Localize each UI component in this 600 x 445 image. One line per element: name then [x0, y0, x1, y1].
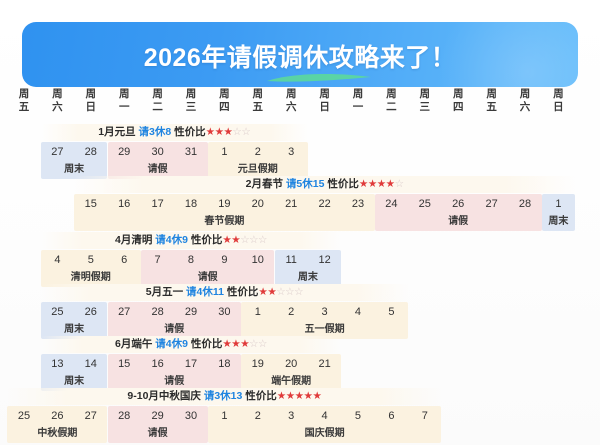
section-month-label: 4月清明: [115, 234, 155, 246]
rating-stars: ★★☆☆☆: [258, 286, 303, 298]
calendar-band-holiday: 456清明假期: [41, 250, 141, 287]
band-day-numbers: 282930: [108, 406, 208, 427]
star-empty-icon: ☆: [294, 286, 303, 298]
day-cell[interactable]: 30: [141, 142, 174, 163]
day-cell[interactable]: 16: [108, 194, 141, 215]
rating-stars: ★★★☆☆: [206, 126, 251, 138]
weekday-header-cell: 周一: [342, 88, 375, 116]
weekday-char-bottom: 四: [442, 101, 475, 114]
calendar-band-weekend: 2526周末: [41, 302, 108, 339]
band-day-numbers: 2425262728: [375, 194, 542, 215]
section-title: 6月端午 请4休9 性价比★★★☆☆: [41, 336, 342, 353]
section-title: 9-10月中秋国庆 请3休13 性价比★★★★★: [7, 388, 441, 405]
band-label: 请假: [375, 214, 542, 230]
day-cell[interactable]: 29: [175, 302, 208, 323]
day-cell[interactable]: 11: [275, 250, 308, 271]
weekday-char-top: 周: [375, 88, 408, 101]
weekday-header-cell: 周一: [108, 88, 141, 116]
day-cell[interactable]: 26: [442, 194, 475, 215]
day-cell[interactable]: 8: [174, 250, 207, 271]
weekday-char-bottom: 六: [275, 101, 308, 114]
weekday-header-cell: 周三: [408, 88, 441, 116]
section-plan-label: 请4休9: [155, 234, 188, 246]
band-day-numbers: 1: [542, 194, 575, 215]
band-day-numbers: 27282930: [108, 302, 242, 323]
day-cell[interactable]: 20: [241, 194, 274, 215]
calendar-band-holiday: 1234567国庆假期: [208, 406, 442, 443]
day-cell[interactable]: 25: [7, 406, 40, 427]
band-day-numbers: 15161718: [108, 354, 242, 375]
day-cell[interactable]: 28: [108, 406, 141, 427]
day-cell[interactable]: 4: [41, 250, 74, 271]
day-cell[interactable]: 10: [241, 250, 274, 271]
calendar-band-leave: 15161718请假: [108, 354, 242, 391]
weekday-header-cell: 周日: [542, 88, 575, 116]
section-month-label: 2月春节: [246, 178, 286, 190]
star-empty-icon: ☆: [258, 234, 267, 246]
rating-stars: ★★☆☆☆: [222, 234, 267, 246]
weekday-header-cell: 周六: [41, 88, 74, 116]
weekday-char-bottom: 六: [41, 101, 74, 114]
section-plan-label: 请4休11: [186, 286, 224, 298]
day-cell[interactable]: 28: [74, 142, 107, 163]
day-cell[interactable]: 30: [175, 406, 208, 427]
section-plan-label: 请5休15: [286, 178, 325, 190]
day-cell[interactable]: 29: [108, 142, 141, 163]
star-filled-icon: ★: [377, 178, 386, 190]
band-label: 中秋假期: [7, 426, 107, 442]
day-cell[interactable]: 5: [341, 406, 374, 427]
weekday-char-top: 周: [141, 88, 174, 101]
star-filled-icon: ★: [240, 338, 249, 350]
band-label: 周末: [542, 214, 575, 230]
day-cell[interactable]: 24: [375, 194, 408, 215]
day-cell[interactable]: 15: [108, 354, 141, 375]
day-cell[interactable]: 26: [74, 302, 107, 323]
star-filled-icon: ★: [359, 178, 368, 190]
page-title: 2026年请假调休攻略来了！: [22, 38, 578, 74]
day-cell[interactable]: 1: [241, 302, 274, 323]
star-filled-icon: ★: [215, 126, 224, 138]
calendar-band-holiday: 192021端午假期: [241, 354, 341, 391]
star-empty-icon: ☆: [240, 234, 249, 246]
weekday-header-cell: 周五: [8, 88, 41, 116]
weekday-char-top: 周: [308, 88, 341, 101]
day-cell[interactable]: 27: [108, 302, 141, 323]
day-cell[interactable]: 1: [542, 194, 575, 215]
weekday-char-bottom: 三: [408, 101, 441, 114]
weekday-char-bottom: 五: [241, 101, 274, 114]
band-day-numbers: 293031: [108, 142, 208, 163]
day-cell[interactable]: 20: [275, 354, 308, 375]
weekday-header-cell: 周六: [509, 88, 542, 116]
weekday-char-top: 周: [509, 88, 542, 101]
day-cell[interactable]: 6: [108, 250, 141, 271]
weekday-char-bottom: 六: [509, 101, 542, 114]
weekday-char-top: 周: [442, 88, 475, 101]
day-cell[interactable]: 12: [308, 250, 341, 271]
weekday-char-bottom: 日: [542, 101, 575, 114]
day-cell[interactable]: 25: [408, 194, 441, 215]
weekday-char-top: 周: [108, 88, 141, 101]
holiday-section: 5月五一 请4休11 性价比★★☆☆☆2526周末27282930请假12345…: [0, 284, 600, 340]
day-cell[interactable]: 4: [308, 406, 341, 427]
day-cell[interactable]: 25: [41, 302, 74, 323]
weekday-char-top: 周: [175, 88, 208, 101]
section-month-label: 9-10月中秋国庆: [127, 390, 203, 402]
star-filled-icon: ★: [267, 286, 276, 298]
rating-stars: ★★★☆☆: [222, 338, 267, 350]
band-day-numbers: 78910: [141, 250, 275, 271]
day-cell[interactable]: 28: [141, 302, 174, 323]
band-day-numbers: 123: [208, 142, 308, 163]
weekday-char-bottom: 二: [141, 101, 174, 114]
weekday-char-bottom: 日: [74, 101, 107, 114]
calendar-band-weekend: 1周末: [542, 194, 575, 231]
weekday-header-cell: 周五: [241, 88, 274, 116]
day-cell[interactable]: 3: [308, 302, 341, 323]
band-day-numbers: 456: [41, 250, 141, 271]
weekday-char-top: 周: [275, 88, 308, 101]
weekday-char-bottom: 一: [108, 101, 141, 114]
weekday-char-top: 周: [408, 88, 441, 101]
day-cell[interactable]: 29: [141, 406, 174, 427]
calendar-page: 2026年请假调休攻略来了！ 周五周六周日周一周二周三周四周五周六周日周一周二周…: [0, 0, 600, 445]
day-cell[interactable]: 23: [341, 194, 374, 215]
section-ratio-label: 性价比: [188, 234, 222, 246]
star-filled-icon: ★: [386, 178, 395, 190]
band-label: 春节假期: [74, 214, 375, 230]
day-cell[interactable]: 3: [275, 406, 308, 427]
day-cell[interactable]: 22: [308, 194, 341, 215]
star-empty-icon: ☆: [241, 126, 250, 138]
weekday-char-bottom: 二: [375, 101, 408, 114]
day-cell[interactable]: 17: [175, 354, 208, 375]
weekday-char-top: 周: [208, 88, 241, 101]
section-title: 4月清明 请4休9 性价比★★☆☆☆: [41, 232, 342, 249]
weekday-char-bottom: 三: [175, 101, 208, 114]
weekday-header-row: 周五周六周日周一周二周三周四周五周六周日周一周二周三周四周五周六周日: [0, 88, 600, 116]
day-cell[interactable]: 17: [141, 194, 174, 215]
day-cell[interactable]: 14: [74, 354, 107, 375]
day-cell[interactable]: 5: [375, 302, 408, 323]
calendar-band-holiday: 12345五一假期: [241, 302, 408, 339]
day-cell[interactable]: 2: [241, 142, 274, 163]
band-label: 国庆假期: [208, 426, 442, 442]
day-cell[interactable]: 5: [74, 250, 107, 271]
star-empty-icon: ☆: [258, 338, 267, 350]
calendar-band-weekend: 1314周末: [41, 354, 108, 391]
section-title: 1月元旦 请3休8 性价比★★★☆☆: [41, 124, 308, 141]
day-cell[interactable]: 3: [275, 142, 308, 163]
day-cell[interactable]: 2: [241, 406, 274, 427]
weekday-char-top: 周: [41, 88, 74, 101]
star-filled-icon: ★: [312, 390, 321, 402]
day-cell[interactable]: 1: [208, 406, 241, 427]
star-empty-icon: ☆: [232, 126, 241, 138]
rating-stars: ★★★★★: [277, 390, 322, 402]
star-empty-icon: ☆: [285, 286, 294, 298]
weekday-header-cell: 周四: [208, 88, 241, 116]
section-plan-label: 请3休8: [139, 126, 172, 138]
star-filled-icon: ★: [286, 390, 295, 402]
holiday-section: 1月元旦 请3休8 性价比★★★☆☆2728周末293031请假123元旦假期: [0, 124, 600, 180]
day-cell[interactable]: 19: [208, 194, 241, 215]
section-title: 5月五一 请4休11 性价比★★☆☆☆: [41, 284, 408, 301]
weekday-char-top: 周: [542, 88, 575, 101]
day-cell[interactable]: 30: [208, 302, 241, 323]
day-cell[interactable]: 18: [208, 354, 241, 375]
day-cell[interactable]: 6: [375, 406, 408, 427]
day-cell[interactable]: 4: [341, 302, 374, 323]
weekday-header-cell: 周二: [141, 88, 174, 116]
day-cell[interactable]: 21: [308, 354, 341, 375]
band-day-numbers: 151617181920212223: [74, 194, 375, 215]
weekday-char-bottom: 一: [342, 101, 375, 114]
holiday-section: 2月春节 请5休15 性价比★★★★☆151617181920212223春节假…: [0, 176, 600, 232]
weekday-char-bottom: 五: [8, 101, 41, 114]
day-cell[interactable]: 27: [74, 406, 107, 427]
band-day-numbers: 252627: [7, 406, 107, 427]
star-filled-icon: ★: [231, 338, 240, 350]
day-cell[interactable]: 1: [208, 142, 241, 163]
day-cell[interactable]: 26: [41, 406, 74, 427]
day-cell[interactable]: 15: [74, 194, 107, 215]
holiday-section: 4月清明 请4休9 性价比★★☆☆☆456清明假期78910请假1112周末: [0, 232, 600, 288]
star-filled-icon: ★: [368, 178, 377, 190]
band-day-numbers: 192021: [241, 354, 341, 375]
weekday-char-bottom: 日: [308, 101, 341, 114]
band-day-numbers: 12345: [241, 302, 408, 323]
day-cell[interactable]: 28: [508, 194, 541, 215]
star-empty-icon: ☆: [249, 234, 258, 246]
day-cell[interactable]: 19: [241, 354, 274, 375]
day-cell[interactable]: 7: [408, 406, 441, 427]
weekday-header-cell: 周二: [375, 88, 408, 116]
weekday-header-cell: 周六: [275, 88, 308, 116]
day-cell[interactable]: 2: [275, 302, 308, 323]
band-day-numbers: 1112: [275, 250, 342, 271]
calendar-band-leave: 2425262728请假: [375, 194, 542, 231]
section-ratio-label: 性价比: [224, 286, 258, 298]
band-day-numbers: 2728: [41, 142, 108, 163]
section-month-label: 6月端午: [115, 338, 155, 350]
star-filled-icon: ★: [258, 286, 267, 298]
star-filled-icon: ★: [206, 126, 215, 138]
section-month-label: 1月元旦: [98, 126, 138, 138]
star-filled-icon: ★: [222, 234, 231, 246]
weekday-header-cell: 周日: [74, 88, 107, 116]
weekday-header-cell: 周日: [308, 88, 341, 116]
calendar-band-weekend: 1112周末: [275, 250, 342, 287]
section-month-label: 5月五一: [146, 286, 186, 298]
calendar-band-leave: 282930请假: [108, 406, 208, 443]
day-cell[interactable]: 9: [208, 250, 241, 271]
section-ratio-label: 性价比: [324, 178, 358, 190]
weekday-char-bottom: 五: [475, 101, 508, 114]
star-empty-icon: ☆: [276, 286, 285, 298]
calendar-band-holiday: 151617181920212223春节假期: [74, 194, 375, 231]
weekday-header-cell: 周三: [175, 88, 208, 116]
weekday-char-top: 周: [8, 88, 41, 101]
weekday-char-top: 周: [342, 88, 375, 101]
star-filled-icon: ★: [231, 234, 240, 246]
calendar-band-leave: 27282930请假: [108, 302, 242, 339]
weekday-header-cell: 周五: [475, 88, 508, 116]
star-filled-icon: ★: [277, 390, 286, 402]
section-ratio-label: 性价比: [171, 126, 205, 138]
section-ratio-label: 性价比: [242, 390, 276, 402]
day-cell[interactable]: 21: [275, 194, 308, 215]
calendar-band-leave: 293031请假: [108, 142, 208, 179]
calendar-band-holiday: 123元旦假期: [208, 142, 308, 179]
day-cell[interactable]: 18: [174, 194, 207, 215]
section-ratio-label: 性价比: [188, 338, 222, 350]
band-label: 请假: [108, 426, 208, 442]
section-plan-label: 请3休13: [204, 390, 243, 402]
weekday-char-top: 周: [475, 88, 508, 101]
band-day-numbers: 2526: [41, 302, 108, 323]
calendar-band-weekend: 2728周末: [41, 142, 108, 179]
star-filled-icon: ★: [295, 390, 304, 402]
star-filled-icon: ★: [222, 338, 231, 350]
day-cell[interactable]: 31: [175, 142, 208, 163]
band-day-numbers: 1234567: [208, 406, 442, 427]
weekday-char-top: 周: [241, 88, 274, 101]
weekday-header-cell: 周四: [442, 88, 475, 116]
day-cell[interactable]: 13: [41, 354, 74, 375]
day-cell[interactable]: 16: [141, 354, 174, 375]
day-cell[interactable]: 27: [41, 142, 74, 163]
holiday-section: 9-10月中秋国庆 请3休13 性价比★★★★★252627中秋假期282930…: [0, 388, 600, 444]
section-title: 2月春节 请5休15 性价比★★★★☆: [74, 176, 575, 193]
star-empty-icon: ☆: [395, 178, 404, 190]
holiday-section: 6月端午 请4休9 性价比★★★☆☆1314周末15161718请假192021…: [0, 336, 600, 392]
calendar-band-holiday: 252627中秋假期: [7, 406, 107, 443]
band-day-numbers: 1314: [41, 354, 108, 375]
section-plan-label: 请4休9: [155, 338, 188, 350]
day-cell[interactable]: 27: [475, 194, 508, 215]
weekday-char-bottom: 四: [208, 101, 241, 114]
day-cell[interactable]: 7: [141, 250, 174, 271]
header-banner: 2026年请假调休攻略来了！: [22, 22, 578, 87]
rating-stars: ★★★★☆: [359, 178, 404, 190]
weekday-char-top: 周: [74, 88, 107, 101]
calendar-band-leave: 78910请假: [141, 250, 275, 287]
star-empty-icon: ☆: [249, 338, 258, 350]
